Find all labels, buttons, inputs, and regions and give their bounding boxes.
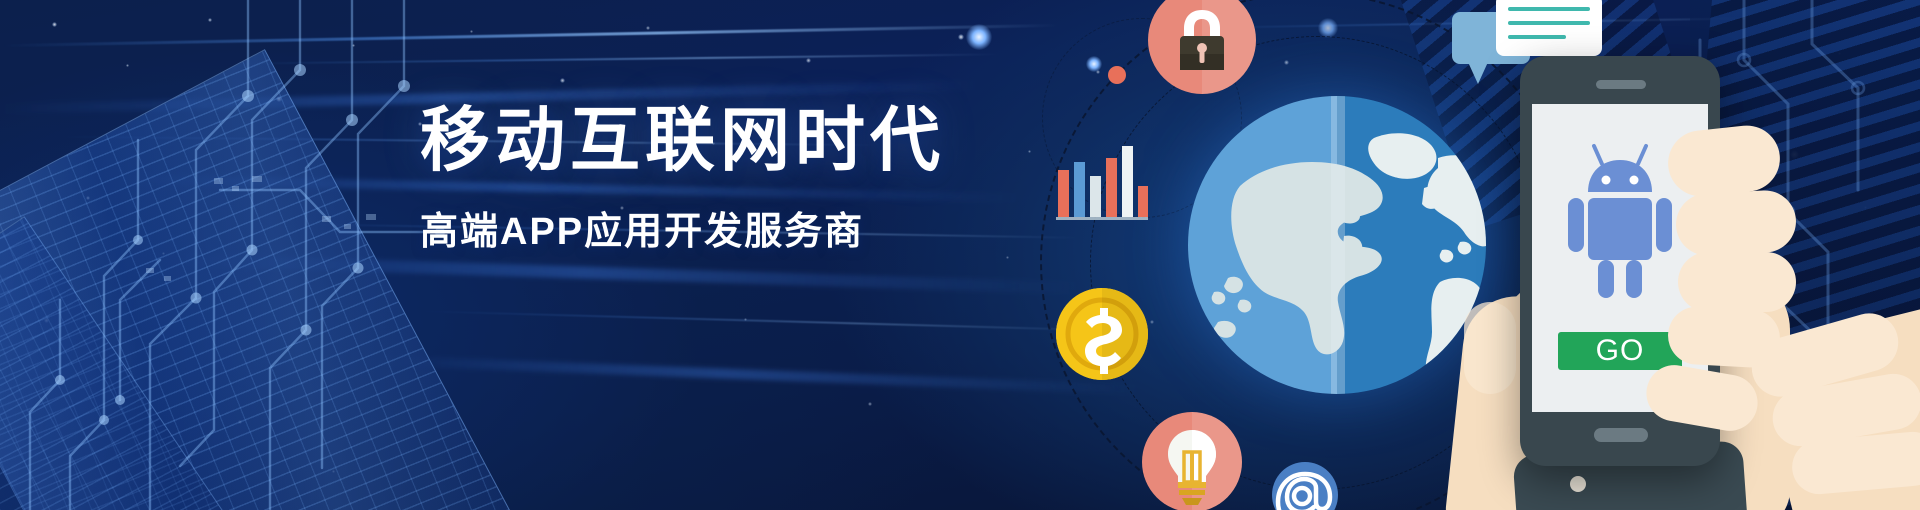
phone-home-button[interactable] — [1594, 428, 1648, 442]
accent-dot — [1108, 66, 1126, 84]
page-subtitle: 高端APP应用开发服务商 — [420, 200, 945, 255]
lightbulb-icon — [1142, 412, 1242, 510]
smartphone-in-hand: GO — [1420, 40, 1920, 510]
page-title: 移动互联网时代 — [420, 104, 945, 178]
lock-icon — [1148, 0, 1256, 94]
at-symbol-icon — [1272, 462, 1338, 510]
phone-speaker — [1596, 80, 1646, 89]
cuff-button — [1570, 476, 1586, 492]
finger-3 — [1678, 252, 1796, 312]
hero-text-block: 移动互联网时代 高端APP应用开发服务商 — [420, 104, 945, 255]
bar-chart-icon — [1052, 140, 1150, 224]
finger-2 — [1674, 189, 1797, 257]
coin-icon — [1056, 288, 1148, 380]
go-button[interactable]: GO — [1558, 332, 1682, 370]
thumb-highlight — [1464, 302, 1516, 394]
hero-banner: GO 移动互联网时代 高端APP应用开发服务商 — [0, 0, 1920, 510]
